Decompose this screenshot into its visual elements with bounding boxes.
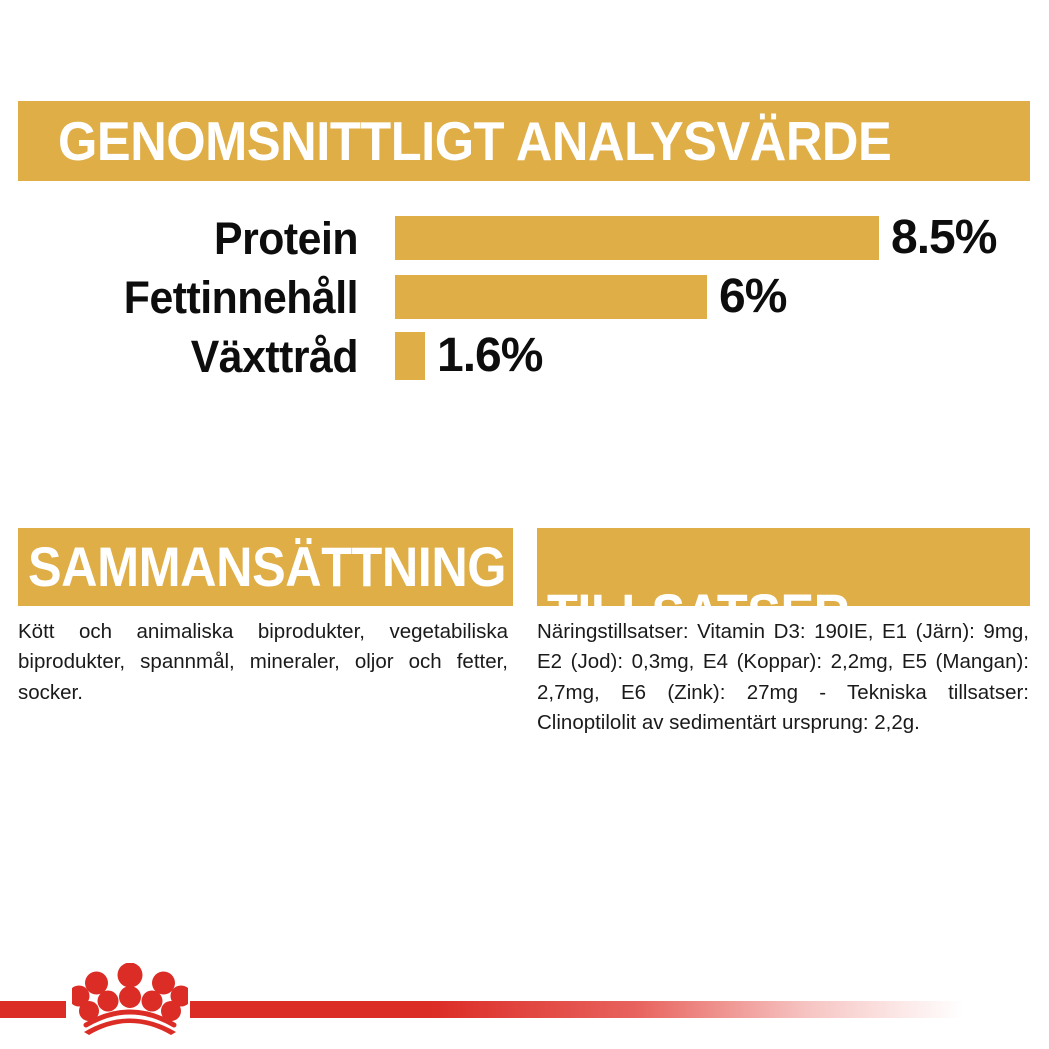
- composition-heading: SAMMANSÄTTNING: [28, 539, 506, 595]
- additives-heading: TILLSATSER: [547, 586, 850, 606]
- bar-fill: [395, 275, 707, 319]
- bar-label: Protein: [18, 216, 358, 261]
- product-nutrition-panel: GENOMSNITTLIGT ANALYSVÄRDE Protein 8.5% …: [0, 0, 1049, 1049]
- composition-text: Kött och animaliska biprodukter, vegetab…: [18, 617, 508, 708]
- footer-rule-right: [190, 1001, 1049, 1018]
- bar-fill: [395, 216, 879, 260]
- bar-value: 6%: [719, 273, 786, 321]
- brand-footer: [0, 939, 1049, 1049]
- section-header-composition: SAMMANSÄTTNING: [18, 528, 513, 606]
- bar-label: Fettinnehåll: [18, 275, 358, 320]
- chart-row: Växttråd 1.6%: [0, 327, 1049, 385]
- royal-canin-crown-icon: [72, 963, 188, 1035]
- chart-row: Protein 8.5%: [0, 209, 1049, 267]
- section-header-analysis: GENOMSNITTLIGT ANALYSVÄRDE: [18, 101, 1030, 181]
- section-header-additives: TILLSATSER (per kg): [537, 528, 1030, 606]
- footer-rule-left: [0, 1001, 66, 1018]
- bar-label: Växttråd: [18, 334, 358, 379]
- chart-row: Fettinnehåll 6%: [0, 268, 1049, 326]
- bar-value: 1.6%: [437, 332, 542, 380]
- bar-track: 6%: [395, 275, 786, 319]
- analysis-heading: GENOMSNITTLIGT ANALYSVÄRDE: [58, 114, 891, 169]
- bar-track: 1.6%: [395, 334, 542, 378]
- bar-value: 8.5%: [891, 214, 996, 262]
- additives-text: Näringstillsatser: Vitamin D3: 190IE, E1…: [537, 617, 1029, 738]
- bar-fill: [395, 332, 425, 380]
- analysis-bar-chart: Protein 8.5% Fettinnehåll 6% Växttråd 1.…: [0, 205, 1049, 395]
- bar-track: 8.5%: [395, 216, 996, 260]
